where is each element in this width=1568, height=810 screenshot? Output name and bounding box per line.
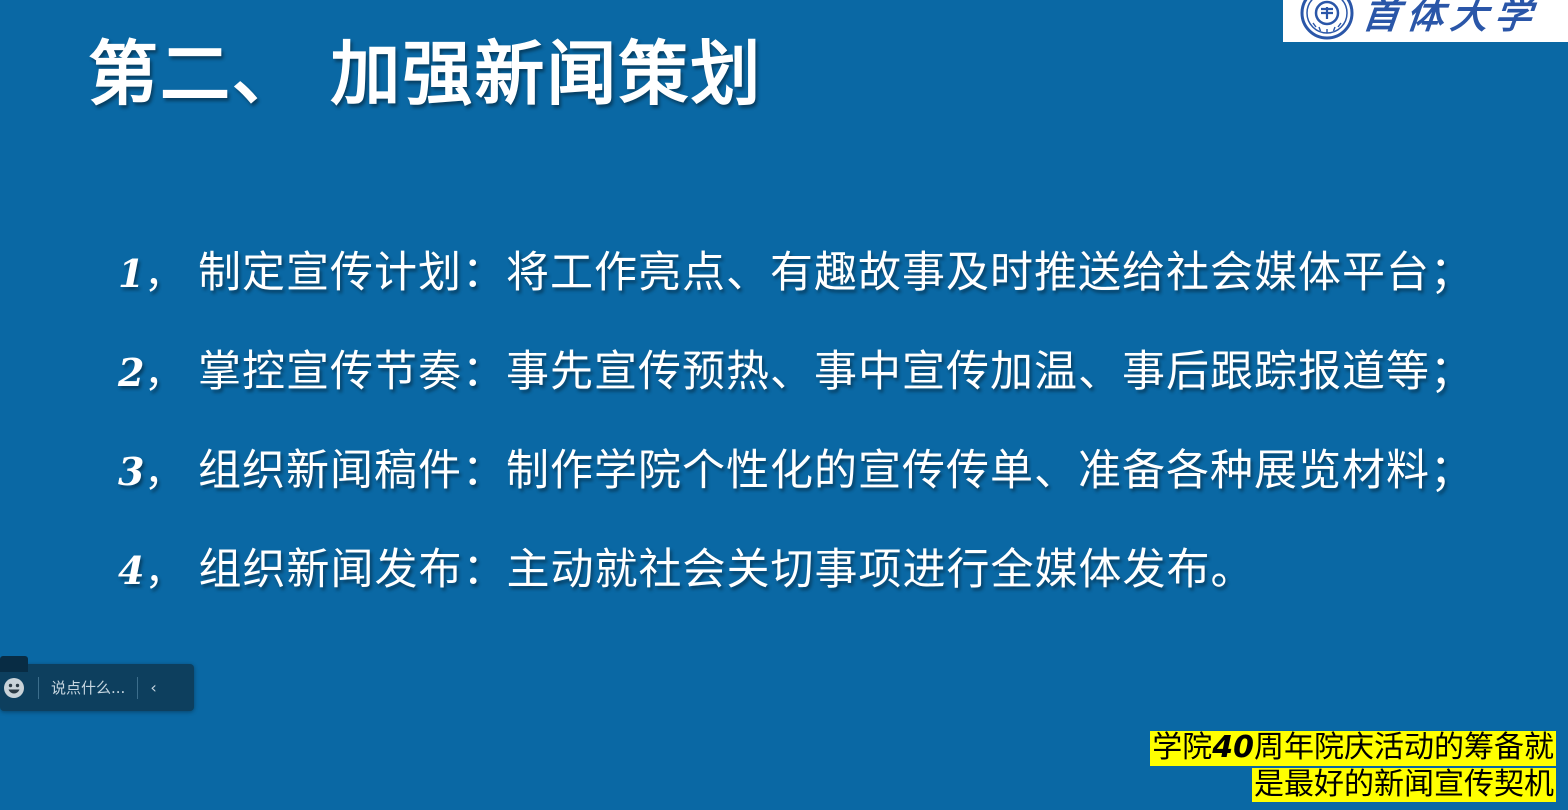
note-line-1-wrap: 学院40周年院庆活动的筹备就	[1150, 731, 1556, 765]
highlighted-note: 学院40周年院庆活动的筹备就 是最好的新闻宣传契机	[1150, 731, 1556, 802]
note-line-2-wrap: 是最好的新闻宣传契机	[1150, 768, 1556, 802]
bullet-text: 掌控宣传节奏：事先宣传预热、事中宣传加温、事后跟踪报道等；	[198, 337, 1474, 399]
note-line-2: 是最好的新闻宣传契机	[1252, 768, 1556, 802]
bullet-separator: ，	[144, 241, 184, 299]
comment-bar-divider-1	[38, 677, 39, 699]
note-line-1: 学院40周年院庆活动的筹备就	[1150, 731, 1556, 765]
comment-input-placeholder[interactable]: 说点什么...	[51, 677, 125, 698]
chevron-left-icon[interactable]: ‹	[150, 680, 162, 696]
bullet-item-4: 4 ， 组织新闻发布：主动就社会关切事项进行全媒体发布。	[118, 535, 1448, 634]
university-logo-banner: 首体大学	[1283, 0, 1568, 42]
bullet-separator: ，	[144, 538, 184, 596]
comment-bar-tab	[0, 656, 28, 672]
presentation-slide: 首体大学 第二、 加强新闻策划 1 ， 制定宣传计划：将工作亮点、有趣故事及时推…	[0, 0, 1568, 810]
bullet-text: 制定宣传计划：将工作亮点、有趣故事及时推送给社会媒体平台；	[198, 238, 1474, 300]
note-line-1-prefix: 学院	[1152, 730, 1212, 765]
bullet-number: 4	[118, 548, 144, 593]
university-logo-inner: 首体大学	[1283, 0, 1568, 42]
smiley-face-icon[interactable]	[2, 676, 26, 700]
bullet-text: 组织新闻发布：主动就社会关切事项进行全媒体发布。	[198, 535, 1254, 597]
note-line-1-number: 40	[1212, 730, 1254, 765]
university-name-calligraphy: 首体大学	[1360, 0, 1542, 39]
bullet-item-3: 3 ， 组织新闻稿件：制作学院个性化的宣传传单、准备各种展览材料；	[118, 436, 1448, 535]
bullet-separator: ，	[144, 340, 184, 398]
bullet-number: 2	[118, 350, 144, 395]
comment-bar-divider-2	[137, 677, 138, 699]
bullet-item-2: 2 ， 掌控宣传节奏：事先宣传预热、事中宣传加温、事后跟踪报道等；	[118, 337, 1448, 436]
slide-title: 第二、 加强新闻策划	[88, 36, 762, 113]
bullet-text: 组织新闻稿件：制作学院个性化的宣传传单、准备各种展览材料；	[198, 436, 1474, 498]
bullet-list: 1 ， 制定宣传计划：将工作亮点、有趣故事及时推送给社会媒体平台； 2 ， 掌控…	[118, 238, 1448, 634]
university-seal-icon	[1299, 0, 1355, 41]
bullet-item-1: 1 ， 制定宣传计划：将工作亮点、有趣故事及时推送给社会媒体平台；	[118, 238, 1448, 337]
bullet-number: 3	[118, 449, 144, 494]
comment-bar[interactable]: 说点什么... ‹	[0, 664, 194, 711]
note-line-1-suffix: 周年院庆活动的筹备就	[1254, 730, 1554, 765]
bullet-separator: ，	[144, 439, 184, 497]
bullet-number: 1	[118, 251, 144, 296]
